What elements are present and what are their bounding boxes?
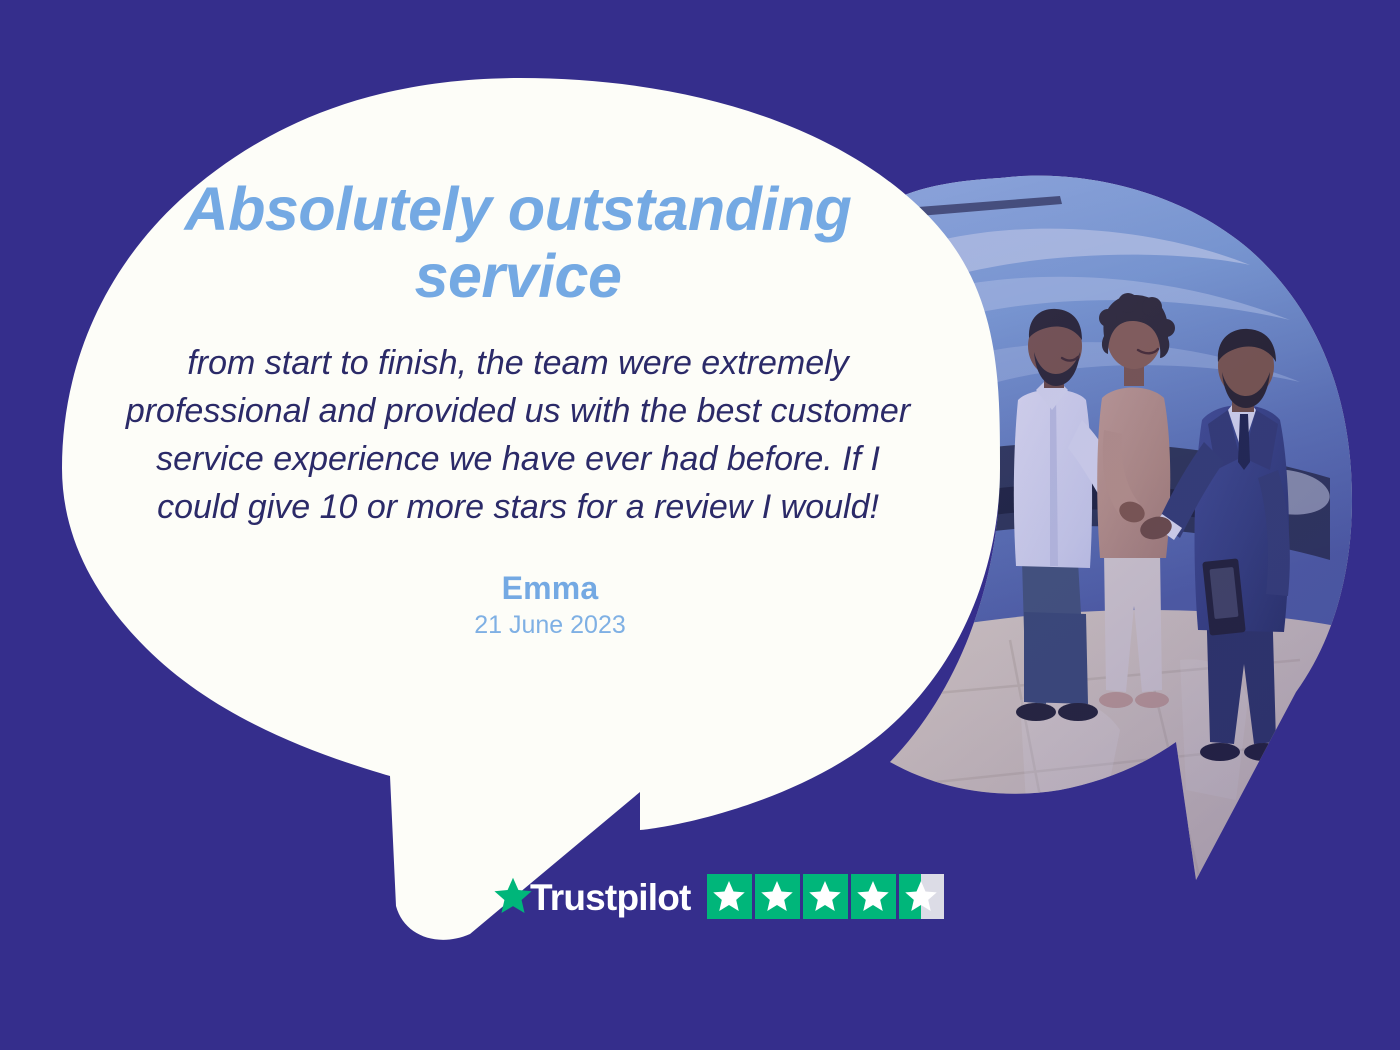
review-attribution: Emma 21 June 2023	[92, 572, 944, 642]
trustpilot-logo[interactable]: Trustpilot	[492, 875, 691, 917]
trustpilot-star-rating[interactable]	[707, 874, 944, 919]
review-headline: Absolutely outstanding service	[92, 176, 944, 310]
review-quote-text: from start to finish, the team were extr…	[92, 340, 944, 532]
reviewer-name: Emma	[156, 572, 944, 606]
review-date: 21 June 2023	[156, 609, 944, 643]
trustpilot-wordmark: Trustpilot	[530, 879, 691, 916]
star-half-icon-5	[899, 874, 944, 919]
star-icon-3	[803, 874, 848, 919]
star-icon-2	[755, 874, 800, 919]
star-icon-4	[851, 874, 896, 919]
star-icon-1	[707, 874, 752, 919]
trustpilot-star-icon	[492, 875, 534, 917]
review-content: Absolutely outstanding service from star…	[92, 176, 944, 642]
review-testimonial-graphic: Absolutely outstanding service from star…	[0, 0, 1400, 1050]
trustpilot-rating-strip[interactable]: Trustpilot 4.5	[492, 869, 944, 923]
